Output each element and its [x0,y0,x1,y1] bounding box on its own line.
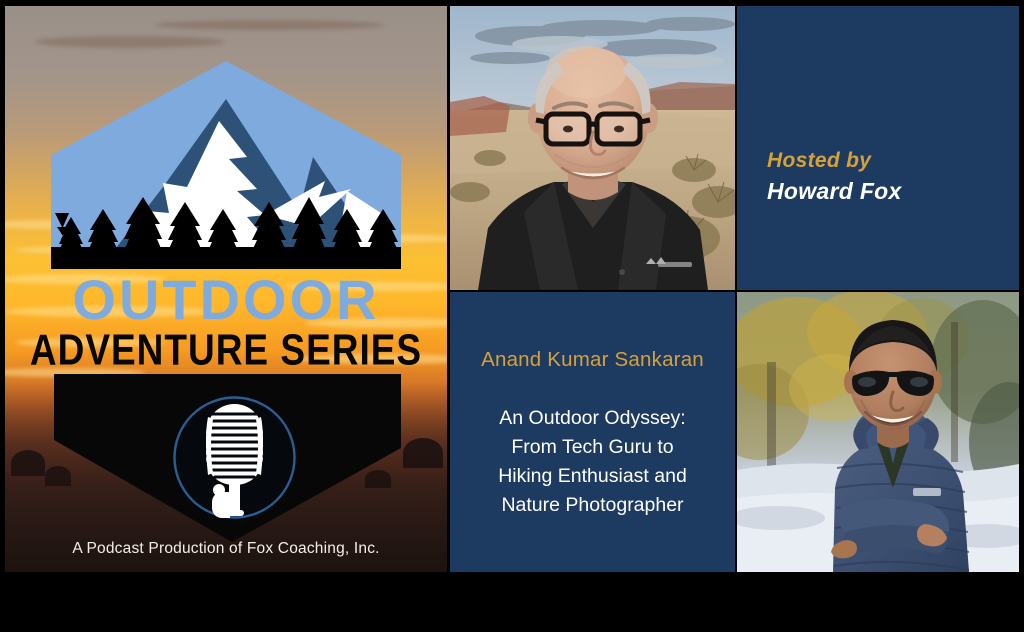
host-portrait-photo [450,6,735,290]
host-name: Howard Fox [767,178,902,205]
guest-portrait-photo [737,292,1019,572]
episode-title-line: An Outdoor Odyssey: [460,404,725,433]
retro-microphone-icon [167,390,302,525]
wordmark-adventure-series: ADVENTURE SERIES [5,328,447,372]
desert-shrub [11,450,45,476]
episode-title: An Outdoor Odyssey: From Tech Guru to Hi… [460,404,725,520]
podcast-tagline: A Podcast Production of Fox Coaching, In… [5,540,447,558]
guest-name: Anand Kumar Sankaran [450,348,735,372]
wordmark-outdoor: OUTDOOR [5,272,447,328]
podcast-cover-art: OUTDOOR ADVENTURE SERIES [5,6,447,572]
podcast-episode-poster: OUTDOOR ADVENTURE SERIES [0,0,1024,632]
episode-title-line: Nature Photographer [460,491,725,520]
cloud-streak [35,36,225,48]
episode-title-line: Hiking Enthusiast and [460,462,725,491]
episode-title-line: From Tech Guru to [460,433,725,462]
hosted-by-panel: Hosted by Howard Fox [737,6,1019,290]
desert-shrub [403,438,443,468]
hosted-by-label: Hosted by [767,149,871,173]
cloud-streak [155,20,385,30]
episode-info-panel: Anand Kumar Sankaran An Outdoor Odyssey:… [450,292,735,572]
mountain-pines-emblem-icon [51,61,401,273]
